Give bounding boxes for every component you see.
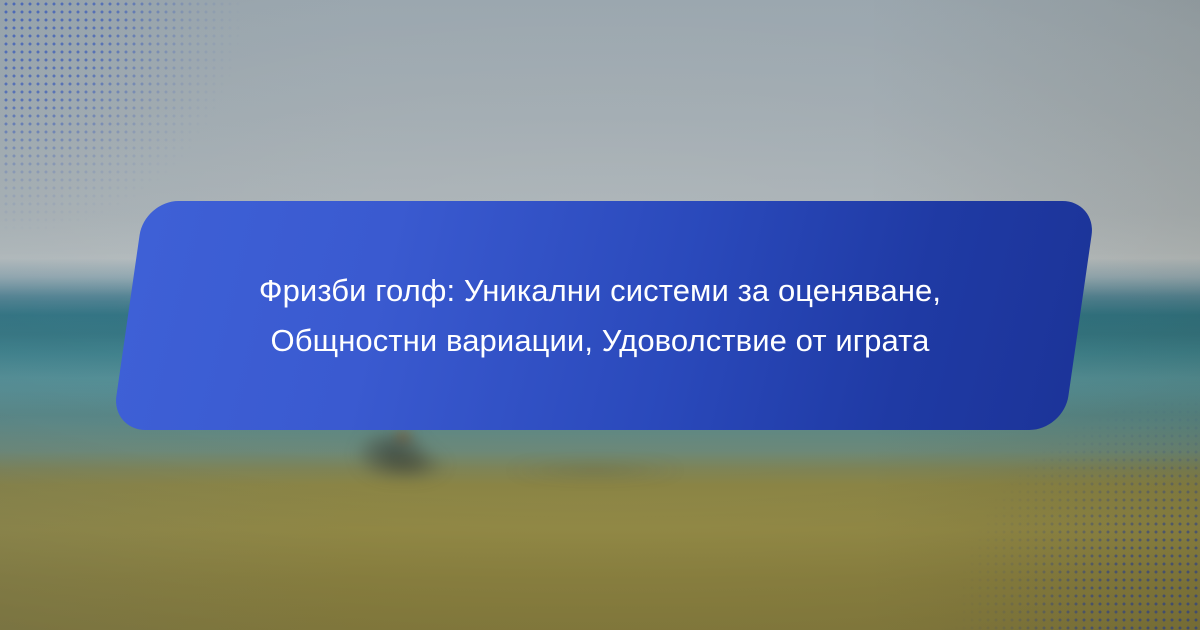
title-line-2: Общностни вариации, Удоволствие от играт… xyxy=(271,316,930,366)
title-plate-container: Фризби голф: Уникални системи за оценява… xyxy=(0,201,1200,430)
share-card: Фризби голф: Уникални системи за оценява… xyxy=(0,0,1200,630)
title-line-1: Фризби голф: Уникални системи за оценява… xyxy=(259,266,941,316)
page-title: Фризби голф: Уникални системи за оценява… xyxy=(0,201,1200,430)
